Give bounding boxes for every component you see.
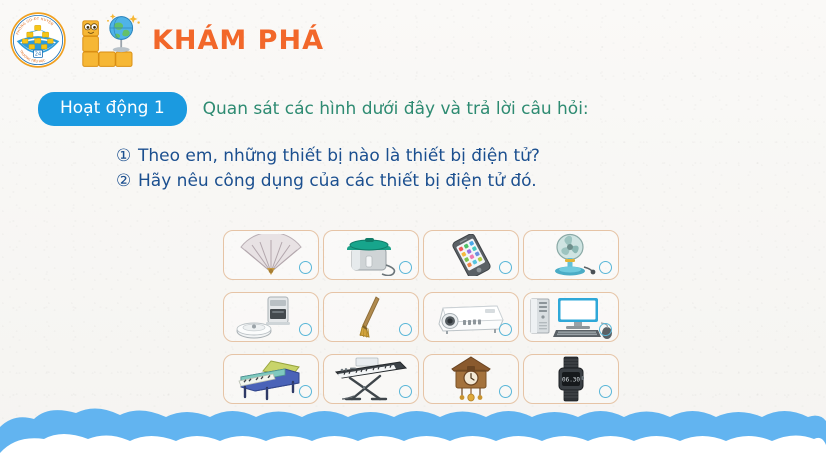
projector-icon bbox=[433, 298, 509, 336]
activity-badge: Hoạt động 1 bbox=[38, 92, 187, 126]
question-marker-1: ① bbox=[116, 144, 138, 169]
question-list: ① Theo em, những thiết bị nào là thiết b… bbox=[116, 144, 540, 194]
question-item-2: ② Hãy nêu công dụng của các thiết bị điệ… bbox=[116, 169, 540, 194]
cloud-wave-decoration bbox=[0, 405, 826, 453]
grid-cell-desktop-computer[interactable] bbox=[523, 292, 619, 342]
grid-cell-rice-cooker[interactable] bbox=[323, 230, 419, 280]
activity-prompt: Quan sát các hình dưới đây và trả lời câ… bbox=[203, 99, 589, 119]
smartphone-icon bbox=[441, 234, 501, 276]
select-radio-electronic-keyboard[interactable] bbox=[399, 385, 412, 398]
select-radio-projector[interactable] bbox=[499, 323, 512, 336]
grid-cell-hand-fan[interactable] bbox=[223, 230, 319, 280]
page-title: KHÁM PHÁ bbox=[152, 25, 324, 56]
cuckoo-clock-icon bbox=[448, 356, 494, 402]
grid-cell-grand-piano[interactable] bbox=[223, 354, 319, 404]
question-text-1: Theo em, những thiết bị nào là thiết bị … bbox=[138, 144, 540, 169]
hand-fan-icon bbox=[235, 234, 307, 276]
select-radio-desktop-computer[interactable] bbox=[599, 323, 612, 336]
select-radio-broom[interactable] bbox=[399, 323, 412, 336]
grand-piano-icon bbox=[233, 357, 309, 401]
svg-text:24: 24 bbox=[35, 52, 41, 58]
grid-cell-robot-vacuum[interactable] bbox=[223, 292, 319, 342]
select-radio-digital-watch[interactable] bbox=[599, 385, 612, 398]
select-radio-electric-fan[interactable] bbox=[599, 261, 612, 274]
robot-vacuum-icon bbox=[234, 295, 308, 339]
robot-caterpillar-globe-mascot bbox=[78, 11, 144, 69]
broom-icon bbox=[349, 295, 393, 339]
question-text-2: Hãy nêu công dụng của các thiết bị điện … bbox=[138, 169, 537, 194]
watch-time-display: 06.30 bbox=[562, 377, 580, 384]
select-radio-robot-vacuum[interactable] bbox=[299, 323, 312, 336]
digital-watch-icon: 06.30 bbox=[554, 356, 588, 402]
activity-row: Hoạt động 1 Quan sát các hình dưới đây v… bbox=[38, 92, 589, 126]
grid-cell-broom[interactable] bbox=[323, 292, 419, 342]
grid-cell-projector[interactable] bbox=[423, 292, 519, 342]
grid-cell-electronic-keyboard[interactable] bbox=[323, 354, 419, 404]
device-image-grid: 06.30 bbox=[223, 230, 619, 404]
rice-cooker-icon bbox=[336, 234, 406, 276]
grid-cell-smartphone[interactable] bbox=[423, 230, 519, 280]
page-header: 24 PHÒNG GD-ĐT HUYỆN TRƯỜNG TIỂU HỌC bbox=[0, 0, 826, 80]
select-radio-smartphone[interactable] bbox=[499, 261, 512, 274]
grid-cell-cuckoo-clock[interactable] bbox=[423, 354, 519, 404]
select-radio-hand-fan[interactable] bbox=[299, 261, 312, 274]
grid-cell-electric-fan[interactable] bbox=[523, 230, 619, 280]
electric-fan-icon bbox=[540, 233, 602, 277]
select-radio-grand-piano[interactable] bbox=[299, 385, 312, 398]
select-radio-cuckoo-clock[interactable] bbox=[499, 385, 512, 398]
select-radio-rice-cooker[interactable] bbox=[399, 261, 412, 274]
question-item-1: ① Theo em, những thiết bị nào là thiết b… bbox=[116, 144, 540, 169]
question-marker-2: ② bbox=[116, 169, 138, 194]
school-emblem-logo: 24 PHÒNG GD-ĐT HUYỆN TRƯỜNG TIỂU HỌC bbox=[10, 12, 66, 68]
grid-cell-digital-watch[interactable]: 06.30 bbox=[523, 354, 619, 404]
